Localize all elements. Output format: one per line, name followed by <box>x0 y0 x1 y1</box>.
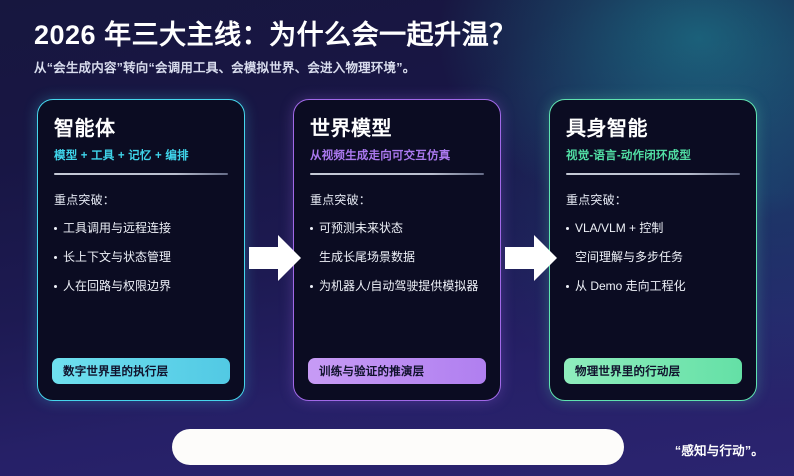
card-world-model-badge: 训练与验证的推演层 <box>308 358 486 384</box>
list-item: 工具调用与远程连接 <box>54 221 228 236</box>
list-item: 人在回路与权限边界 <box>54 279 228 294</box>
card-embodied-ai-focus-label: 重点突破： <box>566 191 740 208</box>
card-world-model-divider <box>310 173 484 175</box>
list-item: 长上下文与状态管理 <box>54 250 228 265</box>
card-world-model-subtitle: 从视频生成走向可交互仿真 <box>310 147 484 163</box>
card-embodied-ai-subtitle: 视觉-语言-动作闭环成型 <box>566 147 740 163</box>
card-embodied-ai[interactable]: 具身智能 视觉-语言-动作闭环成型 重点突破： VLA/VLM + 控制 空间理… <box>549 99 757 401</box>
page-title: 2026 年三大主线：为什么会一起升温？ <box>34 20 754 51</box>
list-item: 生成长尾场景数据 <box>310 250 484 265</box>
card-embodied-ai-body: 具身智能 视觉-语言-动作闭环成型 重点突破： VLA/VLM + 控制 空间理… <box>550 100 756 294</box>
list-item: 从 Demo 走向工程化 <box>566 279 740 294</box>
arrow-right-icon <box>505 234 557 282</box>
card-embodied-ai-divider <box>566 173 740 175</box>
card-world-model-body: 世界模型 从视频生成走向可交互仿真 重点突破： 可预测未来状态 生成长尾场景数据… <box>294 100 500 294</box>
card-embodied-ai-badge: 物理世界里的行动层 <box>564 358 742 384</box>
overlay-panel <box>172 429 624 465</box>
card-world-model[interactable]: 世界模型 从视频生成走向可交互仿真 重点突破： 可预测未来状态 生成长尾场景数据… <box>293 99 501 401</box>
list-item: 为机器人/自动驾驶提供模拟器 <box>310 279 484 294</box>
card-agent-focus-label: 重点突破： <box>54 191 228 208</box>
card-world-model-title: 世界模型 <box>310 118 484 140</box>
card-world-model-bullet-list: 可预测未来状态 生成长尾场景数据 为机器人/自动驾驶提供模拟器 <box>310 221 484 294</box>
card-agent-subtitle: 模型 + 工具 + 记忆 + 编排 <box>54 147 228 163</box>
card-agent-title: 智能体 <box>54 118 228 140</box>
card-embodied-ai-bullet-list: VLA/VLM + 控制 空间理解与多步任务 从 Demo 走向工程化 <box>566 221 740 294</box>
slide-canvas: 2026 年三大主线：为什么会一起升温？ 从“会生成内容”转向“会调用工具、会模… <box>0 0 794 476</box>
card-agent-divider <box>54 173 228 175</box>
page-subtitle: 从“会生成内容”转向“会调用工具、会模拟世界、会进入物理环境”。 <box>34 57 754 76</box>
card-agent-bullet-list: 工具调用与远程连接 长上下文与状态管理 人在回路与权限边界 <box>54 221 228 294</box>
cards-row: 智能体 模型 + 工具 + 记忆 + 编排 重点突破： 工具调用与远程连接 长上… <box>0 99 794 401</box>
header: 2026 年三大主线：为什么会一起升温？ 从“会生成内容”转向“会调用工具、会模… <box>34 20 754 76</box>
card-world-model-focus-label: 重点突破： <box>310 191 484 208</box>
card-agent[interactable]: 智能体 模型 + 工具 + 记忆 + 编排 重点突破： 工具调用与远程连接 长上… <box>37 99 245 401</box>
arrow-right-icon <box>249 234 301 282</box>
card-agent-body: 智能体 模型 + 工具 + 记忆 + 编排 重点突破： 工具调用与远程连接 长上… <box>38 100 244 294</box>
list-item: VLA/VLM + 控制 <box>566 221 740 236</box>
card-agent-badge: 数字世界里的执行层 <box>52 358 230 384</box>
list-item: 空间理解与多步任务 <box>566 250 740 265</box>
list-item: 可预测未来状态 <box>310 221 484 236</box>
card-embodied-ai-title: 具身智能 <box>566 118 740 140</box>
